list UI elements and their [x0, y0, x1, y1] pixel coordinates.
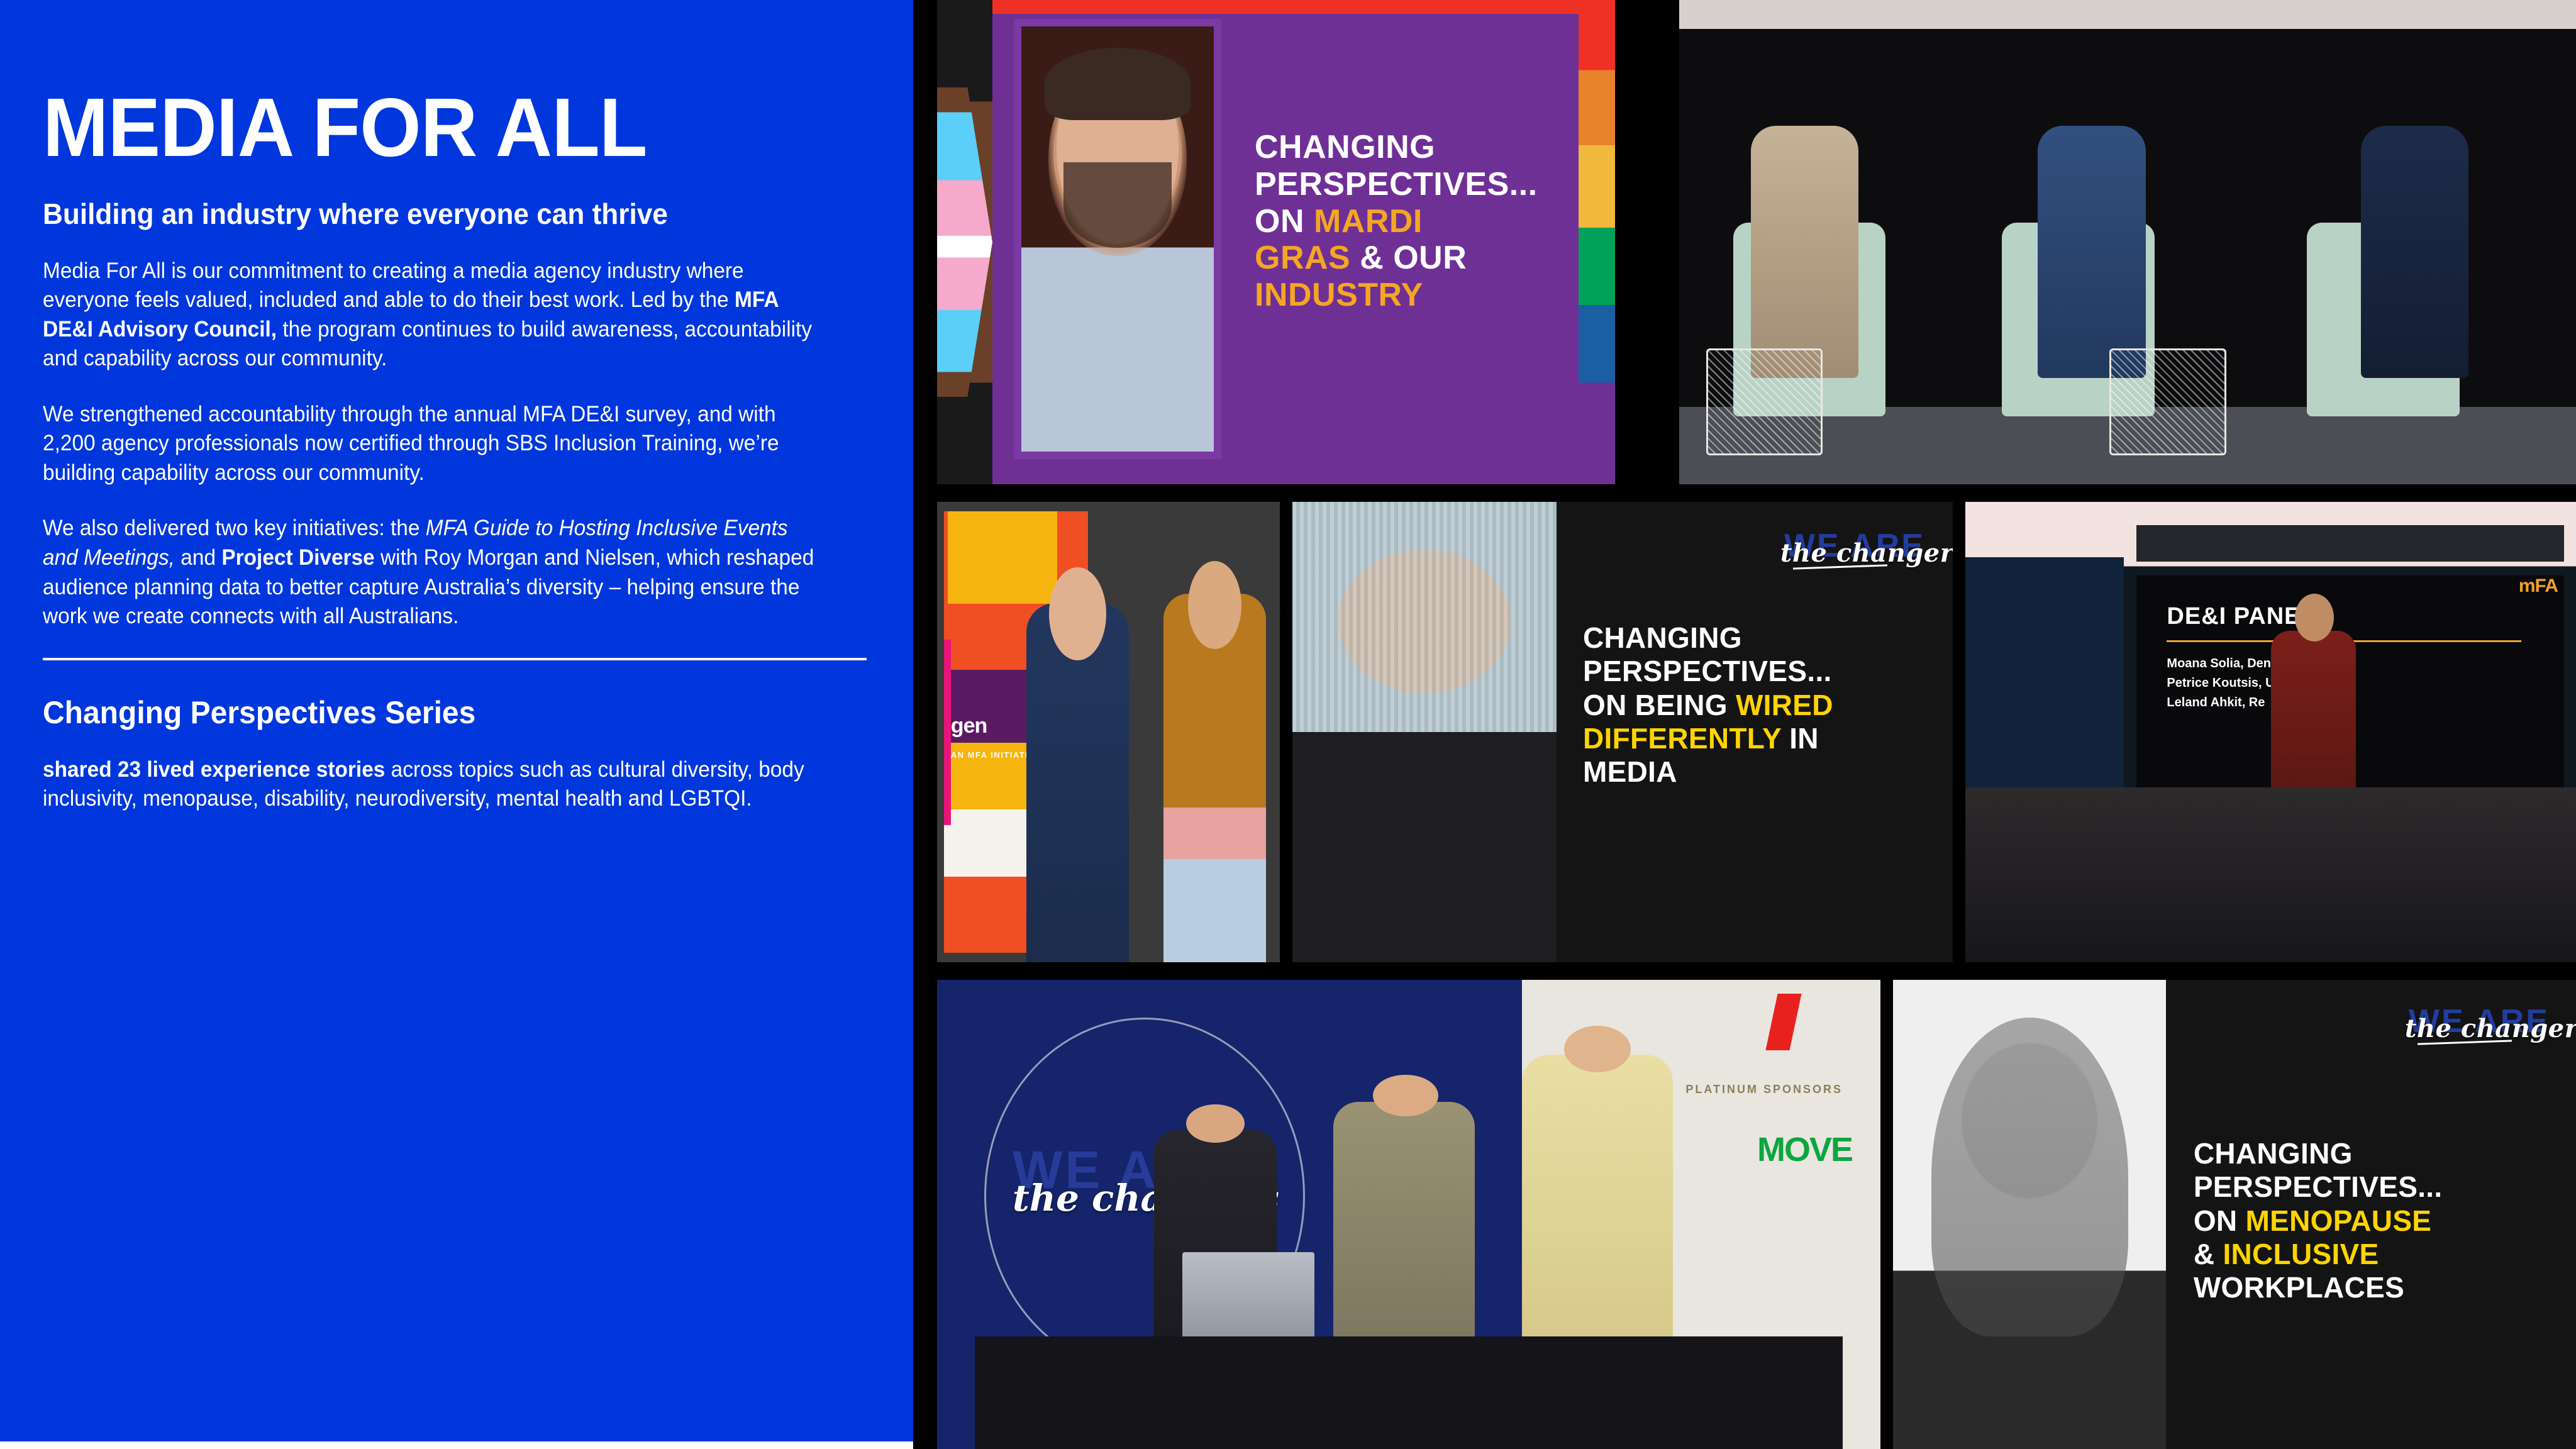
- menopause-line-4-plain: &: [2194, 1238, 2223, 1270]
- mardi-line-4: GRAS & OUR: [1255, 240, 1558, 277]
- wired-line-3: ON BEING WIRED: [1583, 689, 1931, 722]
- wired-line-4: DIFFERENTLY IN: [1583, 722, 1931, 755]
- mfa-brand-mark: mFA: [2519, 575, 2558, 597]
- panellist-2: [2038, 126, 2145, 377]
- we-are-the-changers-logo: WE ARE the changers: [2409, 1005, 2550, 1038]
- panellist-1: [1751, 126, 1858, 377]
- menopause-line-5: WORKPLACES: [2194, 1271, 2558, 1304]
- mardi-line-1: CHANGING: [1255, 129, 1558, 166]
- paragraph-initiatives-part1: We also delivered two key initiatives: t…: [43, 516, 426, 540]
- logo-changers-text: the changers: [2405, 1014, 2576, 1043]
- logo-changers-text: the changers: [1780, 538, 1953, 568]
- red-accent-mark: [1765, 994, 1801, 1050]
- menopause-line-4-highlight: INCLUSIVE: [2223, 1238, 2379, 1270]
- menopause-line-1: CHANGING: [2194, 1137, 2558, 1170]
- page-title: MEDIA FOR ALL: [43, 88, 823, 167]
- menopause-line-3-highlight: MENOPAUSE: [2246, 1204, 2432, 1237]
- subheadline: Building an industry where everyone can …: [43, 197, 828, 231]
- mardi-line-3: ON MARDI: [1255, 203, 1558, 240]
- gen-banner-scene: gen AN MFA INITIATIVE EST 2008: [937, 502, 1280, 962]
- portrait-beard: [1063, 162, 1171, 247]
- wired-line-4-highlight: DIFFERENTLY: [1583, 722, 1781, 755]
- stage-lighting-rig: [2136, 525, 2564, 562]
- dei-panel-screen-title: DE&I PANEL: [2167, 603, 2316, 630]
- paragraph-commitment: Media For All is our commitment to creat…: [43, 257, 827, 374]
- photo-stage-presenters[interactable]: WE ARE the changers PLATINUM SPONSORS MO…: [937, 980, 1880, 1449]
- menopause-line-4: & INCLUSIVE: [2194, 1238, 2558, 1271]
- card-mardi-gras[interactable]: CHANGING PERSPECTIVES... ON MARDI GRAS &…: [937, 0, 1615, 484]
- stage-scene: WE ARE the changers PLATINUM SPONSORS MO…: [937, 980, 1880, 1449]
- photo-gen-initiative[interactable]: gen AN MFA INITIATIVE EST 2008: [937, 502, 1280, 962]
- wired-speaker-photo: [1292, 502, 1557, 962]
- wired-line-3-plain: ON BEING: [1583, 689, 1736, 721]
- project-diverse-emphasis: Project Diverse: [221, 545, 374, 570]
- stories-count-emphasis: shared 23 lived experience stories: [43, 757, 385, 782]
- bottom-white-strip: [0, 1441, 913, 1449]
- mardi-line-3-plain: ON: [1255, 203, 1314, 240]
- move-sponsor-logo: MOVE: [1757, 1130, 1852, 1169]
- rainbow-stripe-icon: [1579, 0, 1615, 484]
- card-wired-differently[interactable]: WE ARE the changers CHANGING PERSPECTIVE…: [1292, 502, 1953, 962]
- presenter-desk: [975, 1336, 1843, 1449]
- left-content-panel: MEDIA FOR ALL Building an industry where…: [0, 0, 913, 1449]
- card-menopause-workplaces[interactable]: WE ARE the changers CHANGING PERSPECTIVE…: [1893, 980, 2576, 1449]
- menopause-title: CHANGING PERSPECTIVES... ON MENOPAUSE & …: [2194, 1137, 2558, 1305]
- wired-line-4-plain: IN: [1781, 722, 1819, 755]
- mardi-line-5: INDUSTRY: [1255, 277, 1558, 314]
- mardi-line-4-plain: & OUR: [1350, 240, 1467, 276]
- progress-pride-chevron-icon: [937, 0, 992, 484]
- wired-line-2: PERSPECTIVES...: [1583, 655, 1931, 688]
- menopause-portrait: [1893, 980, 2166, 1449]
- mardi-line-4-highlight: GRAS: [1255, 240, 1350, 276]
- paragraph-stories: shared 23 lived experience stories acros…: [43, 755, 827, 814]
- mardi-line-3-highlight: MARDI: [1314, 203, 1423, 240]
- gen-logo-text: gen: [951, 714, 987, 738]
- speaker-portrait-photo: [1014, 19, 1221, 459]
- panellist-3: [2361, 126, 2468, 377]
- mardi-line-2: PERSPECTIVES...: [1255, 166, 1558, 203]
- menopause-line-2: PERSPECTIVES...: [2194, 1170, 2558, 1204]
- mardi-gras-title: CHANGING PERSPECTIVES... ON MARDI GRAS &…: [1255, 129, 1558, 314]
- menopause-line-3: ON MENOPAUSE: [2194, 1204, 2558, 1238]
- section-title-changing-perspectives: Changing Perspectives Series: [43, 696, 831, 730]
- paragraph-accountability: We strengthened accountability through t…: [43, 400, 827, 488]
- wired-portrait: [1292, 502, 1557, 962]
- wired-title: CHANGING PERSPECTIVES... ON BEING WIRED …: [1583, 621, 1931, 789]
- we-are-the-changers-logo: WE ARE the changers: [1784, 530, 1925, 562]
- photo-dei-panel-event[interactable]: DE&I PANEL Moana Solia, Dentsu Petrice K…: [1965, 502, 2576, 962]
- side-table-1: [1706, 348, 1823, 455]
- stage-presenter-2: [1333, 1102, 1475, 1346]
- menopause-line-3-plain: ON: [2194, 1204, 2246, 1237]
- paragraph-initiatives-part2: and: [175, 545, 221, 570]
- stage-presenter-3: [1522, 1055, 1673, 1346]
- dei-panel-scene: DE&I PANEL Moana Solia, Dentsu Petrice K…: [1965, 502, 2576, 962]
- laptop-on-desk: [1182, 1252, 1314, 1346]
- gen-person-1: [1026, 603, 1130, 962]
- audience-crowd: [1965, 787, 2576, 962]
- menopause-speaker-photo: [1893, 980, 2166, 1449]
- image-gallery-grid: CHANGING PERSPECTIVES... ON MARDI GRAS &…: [937, 0, 2576, 1449]
- wired-line-1: CHANGING: [1583, 621, 1931, 655]
- paragraph-initiatives: We also delivered two key initiatives: t…: [43, 514, 827, 631]
- section-divider: [43, 658, 867, 660]
- platinum-sponsors-label: PLATINUM SPONSORS: [1685, 1083, 1843, 1096]
- side-table-2: [2109, 348, 2226, 455]
- wired-line-5: MEDIA: [1583, 755, 1931, 789]
- gen-person-2: [1163, 594, 1267, 962]
- paragraph-commitment-part1: Media For All is our commitment to creat…: [43, 258, 744, 313]
- photo-panel-discussion[interactable]: [1679, 0, 2576, 484]
- portrait-hair: [1045, 48, 1191, 120]
- wired-line-3-highlight: WIRED: [1736, 689, 1833, 721]
- slide-root: MEDIA FOR ALL Building an industry where…: [0, 0, 2576, 1449]
- panel-discussion-scene: [1679, 0, 2576, 484]
- mardi-red-top-bar: [992, 0, 1615, 14]
